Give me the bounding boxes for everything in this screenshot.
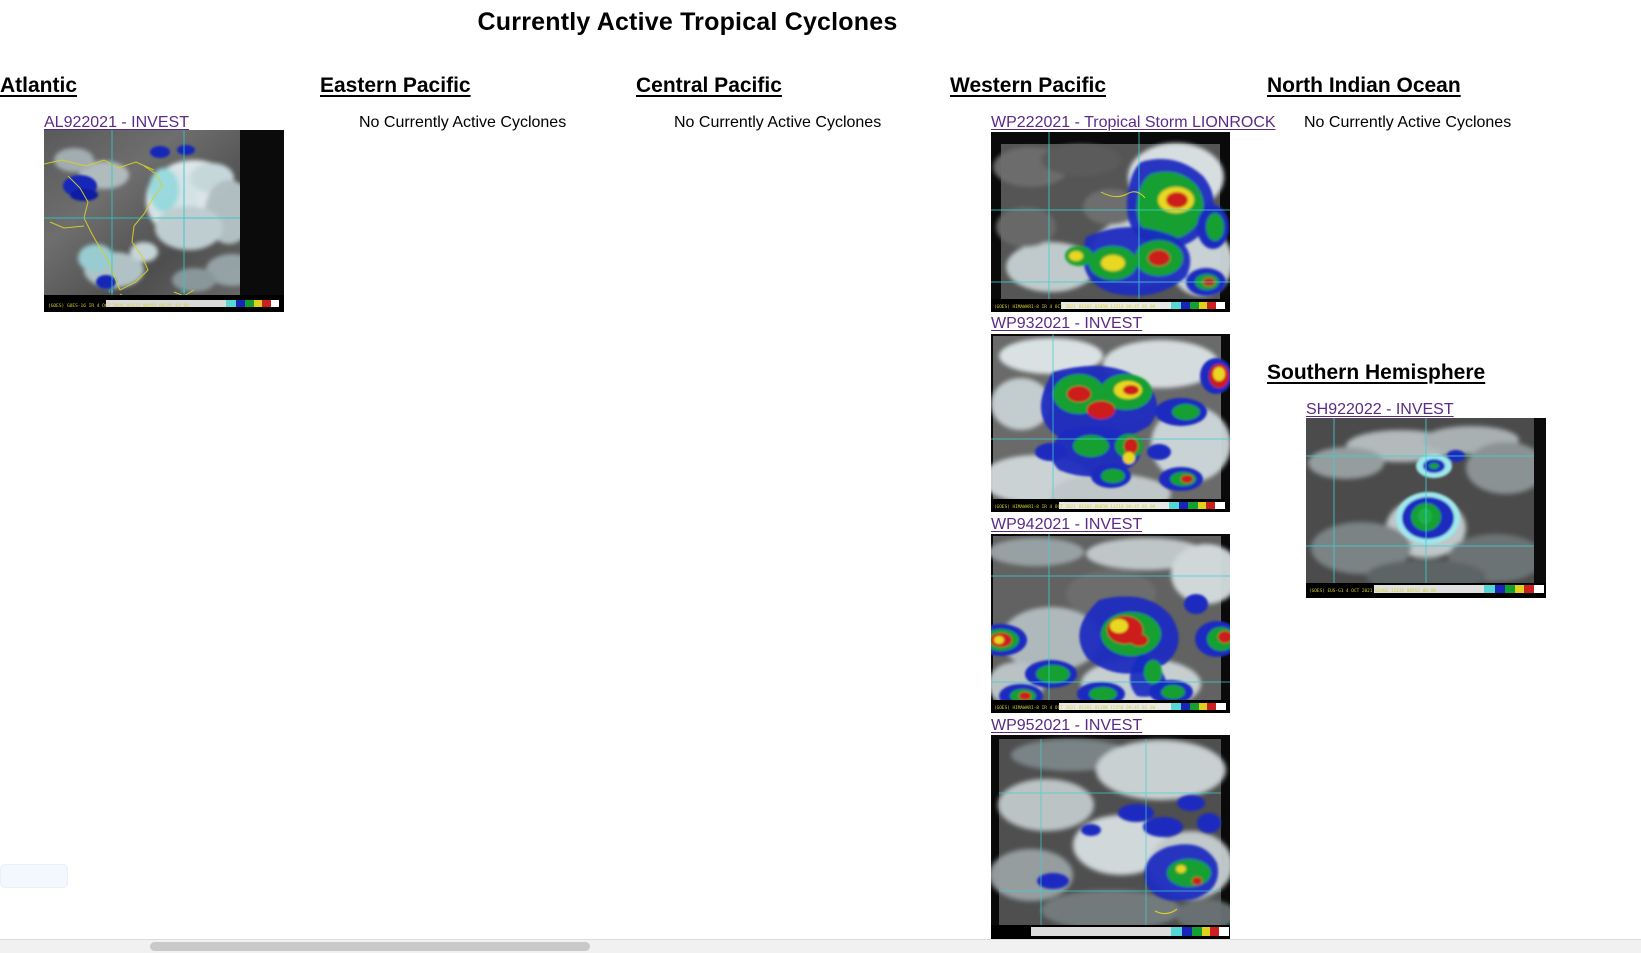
scrollbar-thumb[interactable] <box>150 942 590 951</box>
basin-heading-north-indian-ocean: North Indian Ocean <box>1267 74 1461 98</box>
svg-text:(GOES) HIMAWARI-8 IR 4 OCT 20: (GOES) HIMAWARI-8 IR 4 OCT 2021 0510Z 00… <box>994 504 1156 510</box>
svg-text:(GOES) HIMAWARI-8 IR 4 OCT 20: (GOES) HIMAWARI-8 IR 4 OCT 2021 0510Z 01… <box>994 705 1156 711</box>
basin-heading-eastern-pacific: Eastern Pacific <box>320 74 471 98</box>
download-chip[interactable] <box>0 864 68 888</box>
storm-link-sh922022[interactable]: SH922022 - INVEST <box>1306 401 1454 419</box>
storm-link-wp942021[interactable]: WP942021 - INVEST <box>991 516 1142 534</box>
basin-note-central-pacific: No Currently Active Cyclones <box>674 114 881 132</box>
basin-heading-central-pacific: Central Pacific <box>636 74 782 98</box>
basin-heading-atlantic: Atlantic <box>0 74 77 98</box>
page-root: Currently Active Tropical Cyclones Atlan… <box>0 0 1641 953</box>
basin-heading-southern-hemisphere: Southern Hemisphere <box>1267 361 1485 385</box>
basin-note-north-indian-ocean: No Currently Active Cyclones <box>1304 114 1511 132</box>
storm-link-wp952021[interactable]: WP952021 - INVEST <box>991 717 1142 735</box>
basin-heading-western-pacific: Western Pacific <box>950 74 1106 98</box>
satellite-image-al922021[interactable]: (GOES) GOES-16 IR 4 OCT 2021 0511Z 0045S… <box>44 130 284 312</box>
satellite-image-wp942021[interactable]: (GOES) HIMAWARI-8 IR 4 OCT 2021 0510Z 01… <box>991 534 1230 713</box>
svg-text:(GOES) GOES-16 IR 4 OCT 2021: (GOES) GOES-16 IR 4 OCT 2021 0511Z 0045S… <box>48 303 189 309</box>
svg-text:40: 40 <box>108 289 114 295</box>
basin-note-eastern-pacific: No Currently Active Cyclones <box>359 114 566 132</box>
satellite-image-sh922022[interactable]: (GOES) EUS-G1 4 OCT 2021 0240Z 1113S 005… <box>1306 418 1546 598</box>
storm-link-wp222021[interactable]: WP222021 - Tropical Storm LIONROCK <box>991 114 1276 132</box>
satellite-image-wp952021[interactable] <box>991 735 1230 940</box>
svg-text:30: 30 <box>180 289 186 295</box>
horizontal-scrollbar[interactable] <box>0 939 1641 953</box>
satellite-image-wp932021[interactable]: (GOES) HIMAWARI-8 IR 4 OCT 2021 0510Z 00… <box>991 334 1230 512</box>
storm-link-wp932021[interactable]: WP932021 - INVEST <box>991 315 1142 333</box>
page-title: Currently Active Tropical Cyclones <box>0 8 1375 37</box>
svg-text:(GOES) HIMAWARI-8 IR 4 OCT 20: (GOES) HIMAWARI-8 IR 4 OCT 2021 0510Z 02… <box>994 304 1156 310</box>
svg-text:(GOES) EUS-G1 4 OCT 2021 0: (GOES) EUS-G1 4 OCT 2021 0240Z 1113S 005… <box>1309 588 1436 594</box>
satellite-image-wp222021[interactable]: (GOES) HIMAWARI-8 IR 4 OCT 2021 0510Z 02… <box>991 132 1230 312</box>
